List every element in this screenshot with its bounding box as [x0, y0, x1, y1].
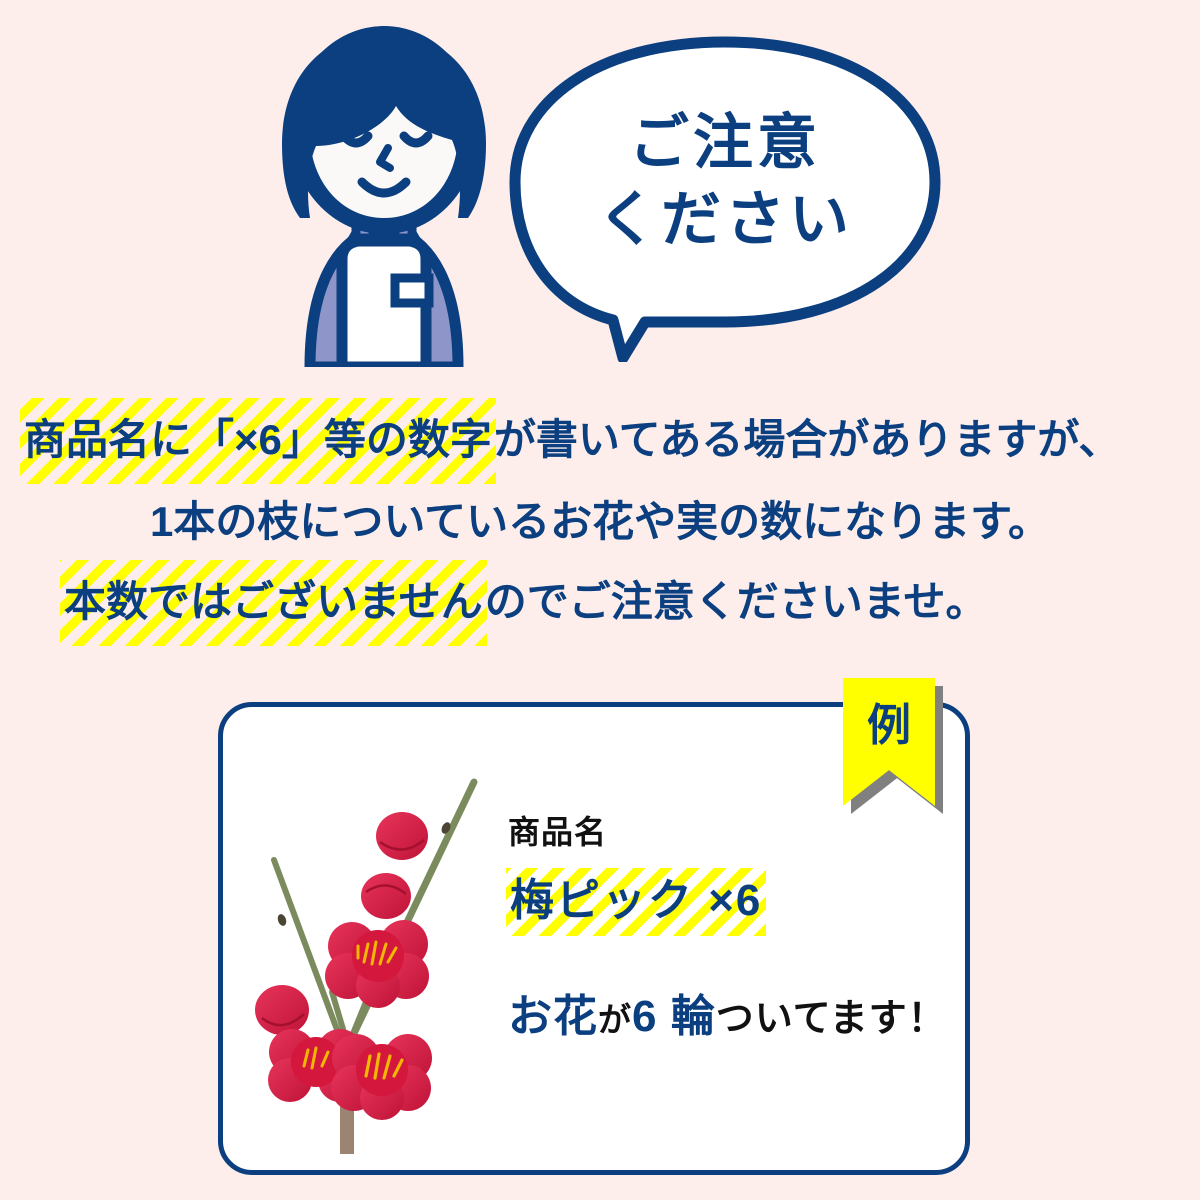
product-name-label: 商品名 — [508, 812, 958, 852]
notice-line-3-rest: のでご注意くださいませ。 — [485, 578, 988, 625]
note-count: 6 輪 — [632, 992, 716, 1041]
ribbon-label: 例 — [843, 704, 935, 748]
product-name-value: 梅ピック ×6 — [508, 868, 958, 936]
product-name-highlight: 梅ピック ×6 — [508, 868, 764, 936]
notice-line-2: 1本の枝についているお花や実の数になります。 — [0, 484, 1200, 560]
notice-line-3-highlight: 本数ではございません — [62, 560, 485, 646]
note-particle: が — [598, 1001, 632, 1038]
notice-line-1-highlight: 商品名に「×6」等の数字 — [22, 398, 494, 484]
card-text-column: 商品名 梅ピック ×6 お花が6 輪ついてます！ — [508, 812, 958, 1044]
plum-blossom-branch-image — [236, 724, 506, 1154]
note-tail: ついてます！ — [716, 998, 947, 1040]
hero-section: ご注意 ください — [0, 0, 1200, 385]
notice-line-3: 本数ではございませんのでご注意くださいませ。 — [0, 560, 1200, 646]
notice-line-1-rest: が書いてある場合がありますが、 — [494, 416, 1121, 463]
notice-line-1: 商品名に「×6」等の数字が書いてある場合がありますが、 — [0, 398, 1200, 484]
note-flower-word: お花 — [508, 992, 598, 1041]
notice-message-block: 商品名に「×6」等の数字が書いてある場合がありますが、 1本の枝についているお花… — [0, 398, 1200, 646]
shop-staff-character-icon — [272, 22, 496, 367]
flower-count-note: お花が6 輪ついてます！ — [508, 980, 958, 1044]
speech-bubble — [505, 32, 945, 362]
example-ribbon-badge: 例 — [843, 678, 935, 806]
